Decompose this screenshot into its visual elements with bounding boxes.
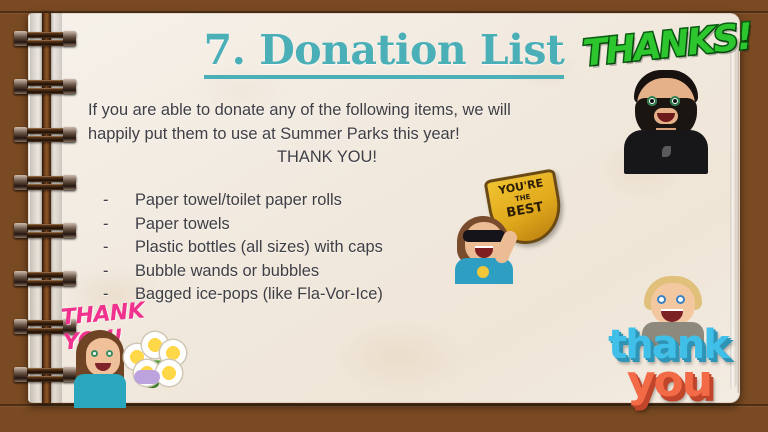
- you-orange-text: you: [594, 356, 744, 407]
- list-item-label: Paper towel/toilet paper rolls: [135, 189, 342, 213]
- shirt-graphic: [477, 266, 489, 278]
- flower-bouquet: [122, 330, 186, 388]
- bullet-dash: -: [103, 260, 135, 284]
- slide-canvas: 7. Donation List If you are able to dona…: [0, 0, 768, 432]
- eye-right: [676, 295, 685, 304]
- slide-title-text: 7. Donation List: [204, 29, 565, 79]
- paragraph-line-2: happily put them to use at Summer Parks …: [88, 123, 566, 147]
- youre-the-best-shield-sticker: YOU'RE THE BEST: [455, 174, 567, 282]
- smiley-daisy-icon: [156, 360, 182, 386]
- bitmoji-girl-with-flowers-sticker: [64, 330, 186, 408]
- eye-right: [106, 350, 113, 357]
- bullet-dash: -: [103, 236, 135, 260]
- spiral-ring: [14, 175, 76, 192]
- intro-paragraph: If you are able to donate any of the fol…: [88, 99, 566, 170]
- bullet-dash: -: [103, 213, 135, 237]
- paragraph-line-3: THANK YOU!: [88, 146, 566, 170]
- spiral-ring: [14, 127, 76, 144]
- thank-you-3d-wordart-sticker: thank you: [588, 300, 758, 404]
- jumpman-logo-icon: [662, 146, 671, 157]
- pupil-right: [673, 99, 677, 103]
- eye-left: [657, 295, 666, 304]
- sunglasses-icon: [463, 230, 505, 242]
- spiral-ring: [14, 79, 76, 96]
- pupil-left: [650, 99, 654, 103]
- bullet-dash: -: [103, 189, 135, 213]
- paragraph-line-1: If you are able to donate any of the fol…: [88, 99, 566, 123]
- list-item-label: Paper towels: [135, 213, 230, 237]
- bitmoji-bearded-man-sticker: [612, 70, 720, 174]
- teal-shirt: [74, 374, 126, 408]
- eye-left: [91, 350, 98, 357]
- list-item-label: Bubble wands or bubbles: [135, 260, 319, 284]
- ribbon-bow: [134, 370, 160, 384]
- spiral-ring: [14, 223, 76, 240]
- list-item-label: Plastic bottles (all sizes) with caps: [135, 236, 383, 260]
- spiral-ring: [14, 271, 76, 288]
